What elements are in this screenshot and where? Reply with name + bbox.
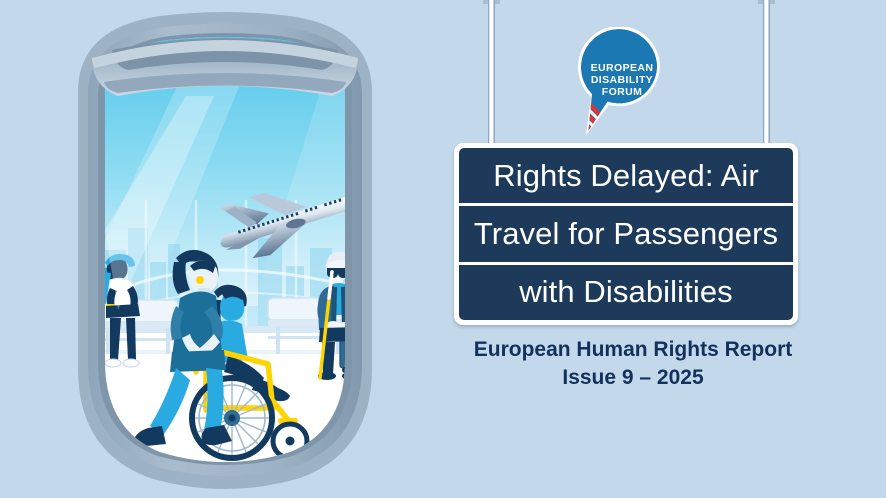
sign-hanging-rod-left [488, 0, 495, 152]
logo-line-2: DISABILITY [591, 74, 653, 86]
title-panel: EUROPEAN DISABILITY FORUM Rights Delayed… [440, 0, 886, 498]
logo-line-3: FORUM [602, 86, 643, 98]
report-subtitle: European Human Rights Report Issue 9 – 2… [440, 336, 826, 392]
sign-inner: Rights Delayed: Air Travel for Passenger… [459, 148, 793, 320]
sign-title-line-1: Rights Delayed: Air [459, 148, 793, 203]
sign-title-line-3: with Disabilities [459, 265, 793, 320]
report-title-sign: Rights Delayed: Air Travel for Passenger… [454, 143, 798, 325]
subtitle-issue: Issue 9 – 2025 [440, 364, 826, 392]
airplane-window-illustration [0, 0, 450, 498]
logo-line-1: EUROPEAN [591, 62, 654, 74]
sign-hanging-rod-right [763, 0, 770, 152]
sign-title-line-2: Travel for Passengers [459, 206, 793, 261]
wheelchair-rear-wheel [192, 378, 272, 458]
european-disability-forum-logo: EUROPEAN DISABILITY FORUM [574, 27, 664, 137]
cover-page: EUROPEAN DISABILITY FORUM Rights Delayed… [0, 0, 886, 498]
subtitle-series: European Human Rights Report [440, 336, 826, 364]
